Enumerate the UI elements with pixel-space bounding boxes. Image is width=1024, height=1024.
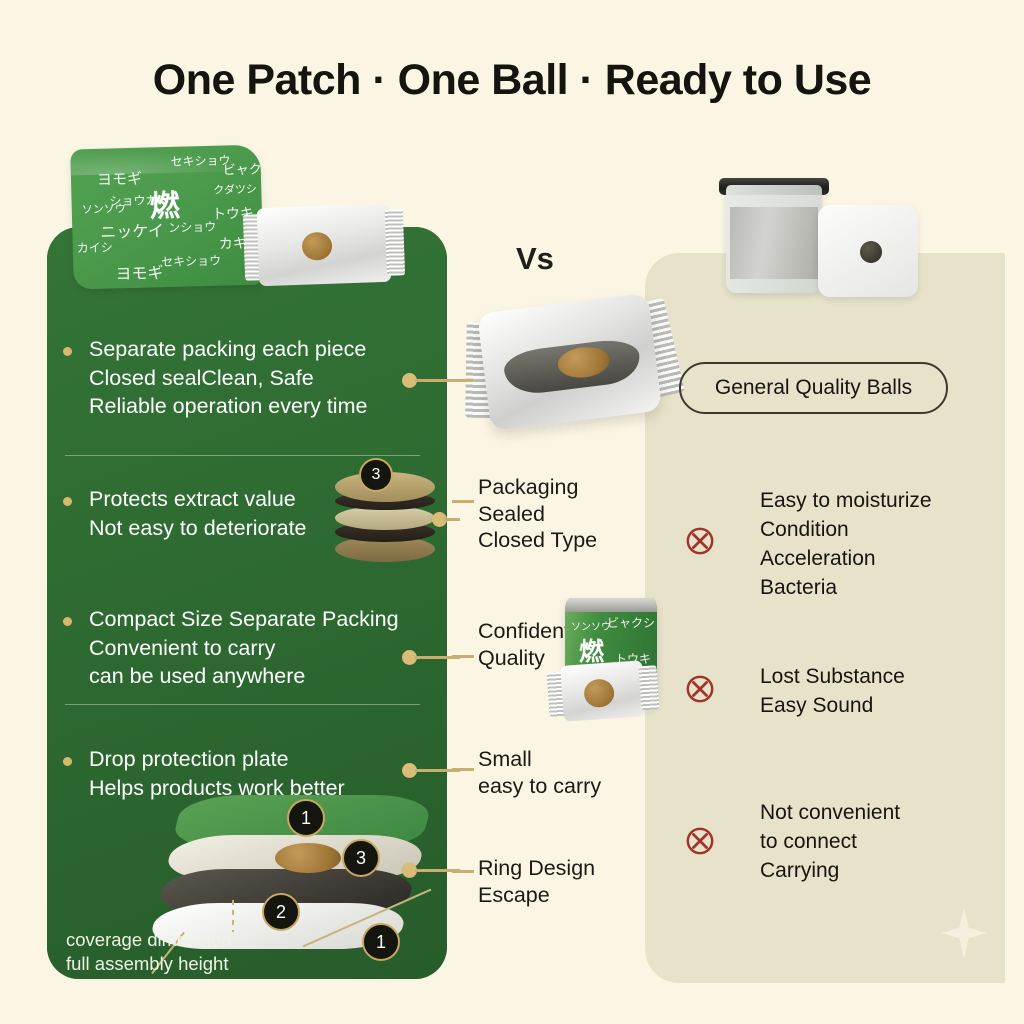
feature-text-1: Separate packing each piece Closed sealC… bbox=[89, 335, 439, 421]
circle-x-icon bbox=[685, 826, 715, 856]
premium-features-panel: Separate packing each piece Closed sealC… bbox=[47, 227, 447, 979]
jp-word: ソンソウ bbox=[82, 200, 126, 217]
jp-word: ショウガ bbox=[109, 191, 157, 209]
ingredient-pack-art: 燃 ヨモギ セキショウ ビャクシ ショウガ ニッケイ トウキ カキバ クダツシ … bbox=[70, 145, 264, 290]
sealed-sachet-small bbox=[243, 203, 406, 287]
connector-line bbox=[415, 379, 473, 382]
bullet-dot-icon bbox=[63, 617, 72, 626]
layer-badge-1b: 1 bbox=[362, 923, 400, 961]
sparkle-icon bbox=[941, 907, 987, 959]
negative-text-3: Not convenient to connect Carrying bbox=[760, 798, 985, 885]
sachet-fin bbox=[638, 665, 659, 710]
feature-text-4: Drop protection plate Helps products wor… bbox=[89, 745, 439, 802]
feature-item-1: Separate packing each piece Closed sealC… bbox=[63, 335, 439, 421]
center-label-3: Small easy to carry bbox=[478, 746, 601, 799]
vs-label: Vs bbox=[516, 241, 554, 277]
glass-jar bbox=[726, 185, 822, 293]
bullet-dot-icon bbox=[63, 757, 72, 766]
jp-word: セキショウ bbox=[161, 252, 221, 271]
center-label-1: Packaging Sealed Closed Type bbox=[478, 474, 597, 554]
circle-x-icon bbox=[685, 526, 715, 556]
layer-badge-3: 3 bbox=[342, 839, 380, 877]
connector-line bbox=[415, 869, 460, 872]
feature-item-4: Drop protection plate Helps products wor… bbox=[63, 745, 439, 802]
page-title: One Patch · One Ball · Ready to Use bbox=[0, 56, 1024, 105]
divider-1 bbox=[65, 455, 420, 456]
connector-dash bbox=[452, 500, 474, 503]
jar-label bbox=[730, 207, 818, 279]
jp-word: ソンソウ bbox=[571, 618, 611, 633]
negative-item-3: Not convenient to connect Carrying bbox=[685, 798, 985, 885]
white-patch bbox=[818, 205, 918, 297]
jp-word: カイシ bbox=[77, 238, 113, 256]
jp-word: ヨモギ bbox=[115, 259, 164, 284]
negative-item-1: Easy to moisturize Condition Acceleratio… bbox=[685, 486, 985, 602]
jp-word: ビャクシ bbox=[223, 158, 264, 178]
layer-badge-3: 3 bbox=[359, 458, 393, 492]
bullet-dot-icon bbox=[63, 497, 72, 506]
circle-x-icon bbox=[685, 674, 715, 704]
negative-item-2: Lost Substance Easy Sound bbox=[685, 662, 985, 720]
connector-line bbox=[444, 518, 460, 521]
center-label-4: Ring Design Escape bbox=[478, 855, 595, 908]
jp-word: ヨモギ bbox=[97, 168, 143, 190]
stacked-discs-art: 3 bbox=[335, 462, 443, 566]
jp-word: ンショウ bbox=[168, 218, 216, 236]
divider-2 bbox=[65, 704, 420, 705]
sachet-fin bbox=[385, 209, 405, 276]
general-quality-header: General Quality Balls bbox=[679, 362, 948, 414]
connector-line bbox=[415, 656, 460, 659]
negative-text-1: Easy to moisturize Condition Acceleratio… bbox=[760, 486, 985, 602]
layer-badge-1: 1 bbox=[287, 799, 325, 837]
infographic-root: One Patch · One Ball · Ready to Use Sepa… bbox=[0, 0, 1024, 1024]
feature-item-3: Compact Size Separate Packing Convenient… bbox=[63, 605, 439, 691]
layer-badge-2: 2 bbox=[262, 893, 300, 931]
moxa-ball bbox=[860, 241, 882, 263]
bullet-dot-icon bbox=[63, 347, 72, 356]
dimension-note: coverage dimension full assembly height bbox=[66, 928, 232, 976]
negative-text-2: Lost Substance Easy Sound bbox=[760, 662, 985, 720]
jp-word: ビャクシ bbox=[607, 614, 655, 631]
center-label-2: Confident Quality bbox=[478, 618, 570, 671]
jp-word: クダツシ bbox=[213, 181, 257, 198]
sealed-sachet-large bbox=[460, 263, 680, 466]
jp-word: ニッケイ bbox=[100, 217, 164, 243]
sealed-sachet-medium bbox=[546, 659, 660, 723]
feature-text-3: Compact Size Separate Packing Convenient… bbox=[89, 605, 439, 691]
connector-line bbox=[415, 769, 460, 772]
moxa-ball bbox=[275, 843, 341, 873]
kanji-label: 燃 bbox=[149, 181, 180, 226]
dimension-dashed-line bbox=[232, 900, 234, 932]
jp-word: セキショウ bbox=[170, 151, 230, 170]
